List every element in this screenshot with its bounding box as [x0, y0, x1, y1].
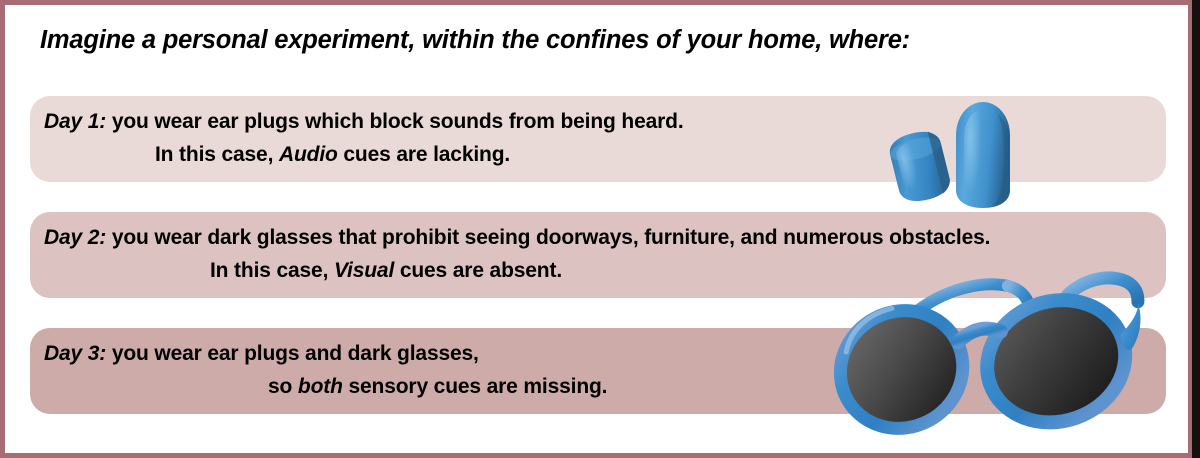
day-2-label: Day 2: [44, 226, 99, 249]
day-2-emphasis: Visual: [334, 259, 394, 282]
day-band-2: [30, 212, 1166, 298]
slide-title: Imagine a personal experiment, within th…: [40, 26, 910, 55]
day-2-line-2-before: In this case,: [210, 259, 334, 282]
day-3-line-2-after: sensory cues are missing.: [343, 375, 608, 398]
day-3-line-2: so both sensory cues are missing.: [268, 375, 607, 399]
day-3-emphasis: both: [298, 375, 343, 398]
day-2-line-1: Day 2: you wear dark glasses that prohib…: [44, 226, 990, 250]
day-3-label: Day 3: [44, 342, 99, 365]
day-3-line-2-before: so: [268, 375, 298, 398]
day-1-line-2: In this case, Audio cues are lacking.: [155, 143, 510, 167]
day-1-label: Day 1: [44, 110, 99, 133]
day-1-line-2-after: cues are lacking.: [338, 143, 510, 166]
day-1-line-2-before: In this case,: [155, 143, 279, 166]
day-1-line-1: Day 1: you wear ear plugs which block so…: [44, 110, 684, 134]
day-3-line-1-text: you wear ear plugs and dark glasses,: [106, 342, 479, 365]
day-2-line-2: In this case, Visual cues are absent.: [210, 259, 562, 283]
day-band-1: [30, 96, 1166, 182]
slide-canvas: Imagine a personal experiment, within th…: [0, 0, 1200, 458]
day-3-line-1: Day 3: you wear ear plugs and dark glass…: [44, 342, 479, 366]
day-band-3: [30, 328, 1166, 414]
frame-edge-shadow: [1192, 0, 1200, 458]
day-2-line-1-text: you wear dark glasses that prohibit seei…: [106, 226, 990, 249]
frame-border-bottom: [0, 453, 1200, 458]
frame-border-left: [0, 0, 5, 458]
day-1-line-1-text: you wear ear plugs which block sounds fr…: [106, 110, 683, 133]
day-2-line-2-after: cues are absent.: [394, 259, 562, 282]
day-1-emphasis: Audio: [279, 143, 338, 166]
frame-border-top: [0, 0, 1200, 5]
